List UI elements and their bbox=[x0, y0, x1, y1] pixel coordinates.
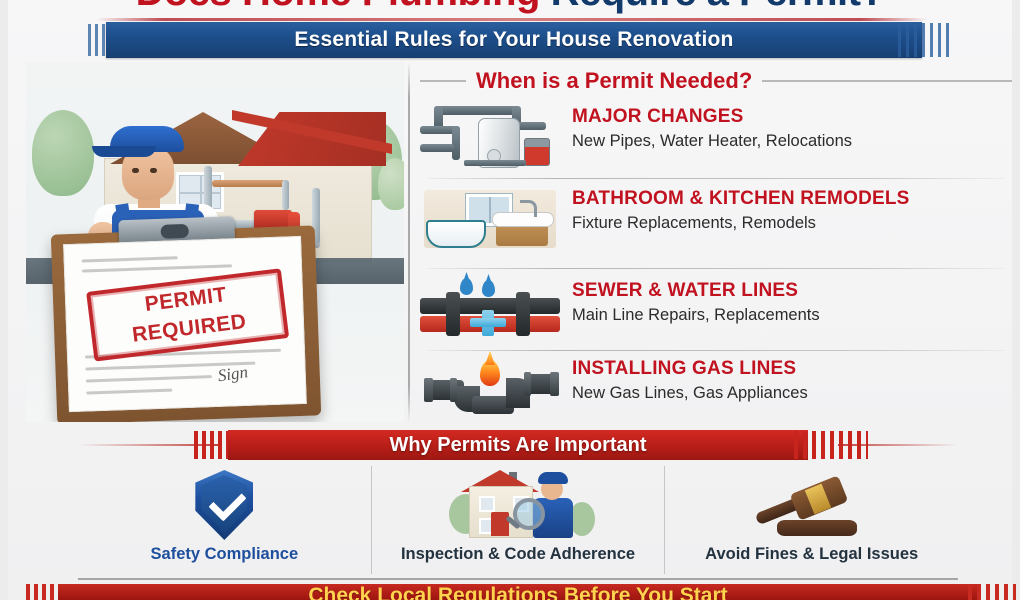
benefit-card-label: Avoid Fines & Legal Issues bbox=[705, 545, 918, 564]
benefit-card-avoid-fines[interactable]: Avoid Fines & Legal Issues bbox=[664, 466, 958, 574]
page-title-blue-part: Require a Permit? bbox=[551, 0, 885, 14]
plumber-eye bbox=[150, 168, 157, 173]
plumber-eye bbox=[132, 168, 139, 173]
shield-check-icon bbox=[149, 468, 299, 544]
item-divider bbox=[428, 350, 1004, 351]
benefit-card-inspection-code[interactable]: Inspection & Code Adherence bbox=[371, 466, 665, 574]
tree-icon bbox=[32, 110, 94, 196]
sewer-water-pipe-icon bbox=[420, 278, 560, 340]
permit-item-subtitle: New Gas Lines, Gas Appliances bbox=[572, 382, 1012, 404]
benefit-card-label: Inspection & Code Adherence bbox=[401, 545, 635, 564]
infographic-body: Does Home Plumbing Require a Permit? Ess… bbox=[8, 0, 1012, 600]
footer-separator bbox=[78, 578, 958, 580]
benefit-cards: Safety Compliance Inspection & Code Adhe… bbox=[78, 466, 958, 574]
faucet-icon bbox=[520, 200, 537, 217]
page-title: Does Home Plumbing Require a Permit? bbox=[8, 0, 1012, 18]
text-line bbox=[82, 264, 232, 272]
permit-item-title: BATHROOM & KITCHEN REMODELS bbox=[572, 188, 1012, 209]
text-line bbox=[82, 256, 178, 262]
bathtub-vanity-icon bbox=[420, 186, 560, 252]
flame-icon bbox=[480, 360, 500, 386]
gavel-icon bbox=[737, 468, 887, 544]
pipe-segment bbox=[282, 180, 289, 210]
permit-item-subtitle: Fixture Replacements, Remodels bbox=[572, 212, 1012, 234]
benefit-card-label: Safety Compliance bbox=[151, 545, 299, 564]
permit-item-gas-lines[interactable]: INSTALLING GAS LINES New Gas Lines, Gas … bbox=[420, 356, 1012, 418]
text-line bbox=[86, 375, 212, 382]
permit-item-bathroom-kitchen[interactable]: BATHROOM & KITCHEN REMODELS Fixture Repl… bbox=[420, 186, 1012, 252]
plumber-cap-brim bbox=[92, 146, 156, 157]
water-drop-icon bbox=[460, 278, 473, 295]
importance-banner: Why Permits Are Important bbox=[78, 428, 958, 462]
permit-item-title: SEWER & WATER LINES bbox=[572, 280, 1012, 301]
item-divider bbox=[428, 178, 1004, 179]
permit-item-major-changes[interactable]: MAJOR CHANGES New Pipes, Water Heater, R… bbox=[420, 104, 1012, 166]
water-heater-pipes-icon bbox=[420, 104, 560, 166]
illustration-scene: PERMIT REQUIRED Sign bbox=[26, 62, 404, 422]
gas-pipe-flame-icon bbox=[420, 356, 560, 418]
permits-section-title: When is a Permit Needed? bbox=[476, 68, 752, 94]
benefit-card-safety-compliance[interactable]: Safety Compliance bbox=[78, 466, 371, 574]
subtitle-banner: Essential Rules for Your House Renovatio… bbox=[96, 22, 932, 58]
permit-item-sewer-water[interactable]: SEWER & WATER LINES Main Line Repairs, R… bbox=[420, 278, 1012, 340]
permit-document: PERMIT REQUIRED Sign bbox=[63, 236, 307, 412]
hero-illustration: PERMIT REQUIRED Sign bbox=[26, 62, 404, 422]
infographic-canvas: Does Home Plumbing Require a Permit? Ess… bbox=[0, 0, 1020, 600]
header-rule-left bbox=[420, 80, 466, 82]
bathtub-icon bbox=[426, 220, 486, 248]
footer-banner-text: Check Local Regulations Before You Start bbox=[16, 585, 1020, 600]
expansion-tank bbox=[524, 138, 550, 166]
footer-banner: Check Local Regulations Before You Start bbox=[16, 584, 1020, 600]
subtitle-text: Essential Rules for Your House Renovatio… bbox=[96, 22, 932, 58]
house-inspector-magnifier-icon bbox=[443, 468, 593, 544]
item-divider bbox=[428, 268, 1004, 269]
title-underline-rule bbox=[96, 18, 928, 21]
permits-panel: When is a Permit Needed? MAJOR CHANGES N… bbox=[420, 62, 1012, 422]
text-line bbox=[86, 389, 172, 395]
permit-item-subtitle: Main Line Repairs, Replacements bbox=[572, 304, 1012, 326]
permit-item-subtitle: New Pipes, Water Heater, Relocations bbox=[572, 130, 1012, 152]
page-title-red-part: Does Home Plumbing bbox=[136, 0, 551, 14]
permit-required-stamp: PERMIT REQUIRED bbox=[86, 268, 289, 361]
permit-item-title: INSTALLING GAS LINES bbox=[572, 358, 1012, 379]
column-divider bbox=[408, 62, 410, 422]
water-drop-icon bbox=[482, 280, 495, 297]
clipboard: PERMIT REQUIRED Sign bbox=[51, 225, 321, 422]
permits-section-header: When is a Permit Needed? bbox=[420, 66, 1012, 96]
header-rule-right bbox=[762, 80, 1012, 82]
importance-banner-text: Why Permits Are Important bbox=[228, 430, 808, 460]
permit-item-title: MAJOR CHANGES bbox=[572, 106, 1012, 127]
